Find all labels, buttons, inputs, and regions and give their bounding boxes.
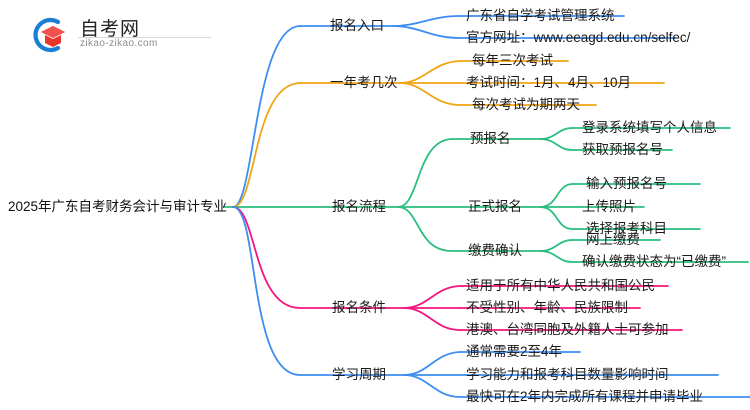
leaf-exam-months[interactable]: 考试时间：1月、4月、10月 (466, 76, 631, 90)
leaf-upload-photo[interactable]: 上传照片 (582, 200, 636, 214)
subbranch-label-zhengshibaoming[interactable]: 正式报名 (468, 200, 522, 214)
leaf-confirm-payment-status[interactable]: 确认缴费状态为“已缴费” (582, 255, 726, 269)
leaf-enter-preregistration-number[interactable]: 输入预报名号 (586, 177, 667, 191)
leaf-login-fill-info[interactable]: 登录系统填写个人信息 (582, 121, 717, 135)
logo-domain: zikao-zikao.com (80, 38, 158, 49)
subbranch-label-yubaoming[interactable]: 预报名 (470, 132, 511, 146)
leaf-official-url[interactable]: 官方网址：www.eeagd.edu.cn/selfec/ (466, 31, 690, 45)
logo-title: 自考网 (80, 14, 140, 41)
leaf-ability-and-subject-count[interactable]: 学习能力和报考科目数量影响时间 (466, 368, 669, 382)
branch-label-baomingtiaojian[interactable]: 报名条件 (332, 301, 386, 315)
branch-label-baomingrukou[interactable]: 报名入口 (330, 19, 384, 33)
leaf-hk-macau-taiwan-foreigners[interactable]: 港澳、台湾同胞及外籍人士可参加 (466, 323, 669, 337)
leaf-exam-duration[interactable]: 每次考试为期两天 (472, 98, 580, 112)
branch-label-yiniankaojici[interactable]: 一年考几次 (330, 76, 398, 90)
leaf-fastest-2-years[interactable]: 最快可在2年内完成所有课程并申请毕业 (466, 390, 703, 404)
branch-label-baomingliucheng[interactable]: 报名流程 (332, 200, 386, 214)
leaf-all-prc-citizens[interactable]: 适用于所有中华人民共和国公民 (466, 279, 655, 293)
leaf-no-restrictions[interactable]: 不受性别、年龄、民族限制 (466, 301, 628, 315)
site-logo: 自考网 zikao-zikao.com (28, 12, 213, 58)
leaf-three-exams-per-year[interactable]: 每年三次考试 (472, 54, 553, 68)
logo-mark-icon (28, 16, 72, 54)
leaf-get-preregistration-number[interactable]: 获取预报名号 (582, 143, 663, 157)
leaf-guangdong-system[interactable]: 广东省自学考试管理系统 (466, 9, 615, 23)
leaf-usually-2-to-4-years[interactable]: 通常需要2至4年 (466, 345, 562, 359)
mindmap-canvas: 自考网 zikao-zikao.com (0, 0, 750, 410)
branch-label-xuexizhouqi[interactable]: 学习周期 (332, 368, 386, 382)
subbranch-label-jiaofeiqueren[interactable]: 缴费确认 (468, 244, 522, 258)
mindmap-root-node[interactable]: 2025年广东自考财务会计与审计专业 (8, 200, 227, 214)
leaf-online-payment[interactable]: 网上缴费 (586, 233, 640, 247)
